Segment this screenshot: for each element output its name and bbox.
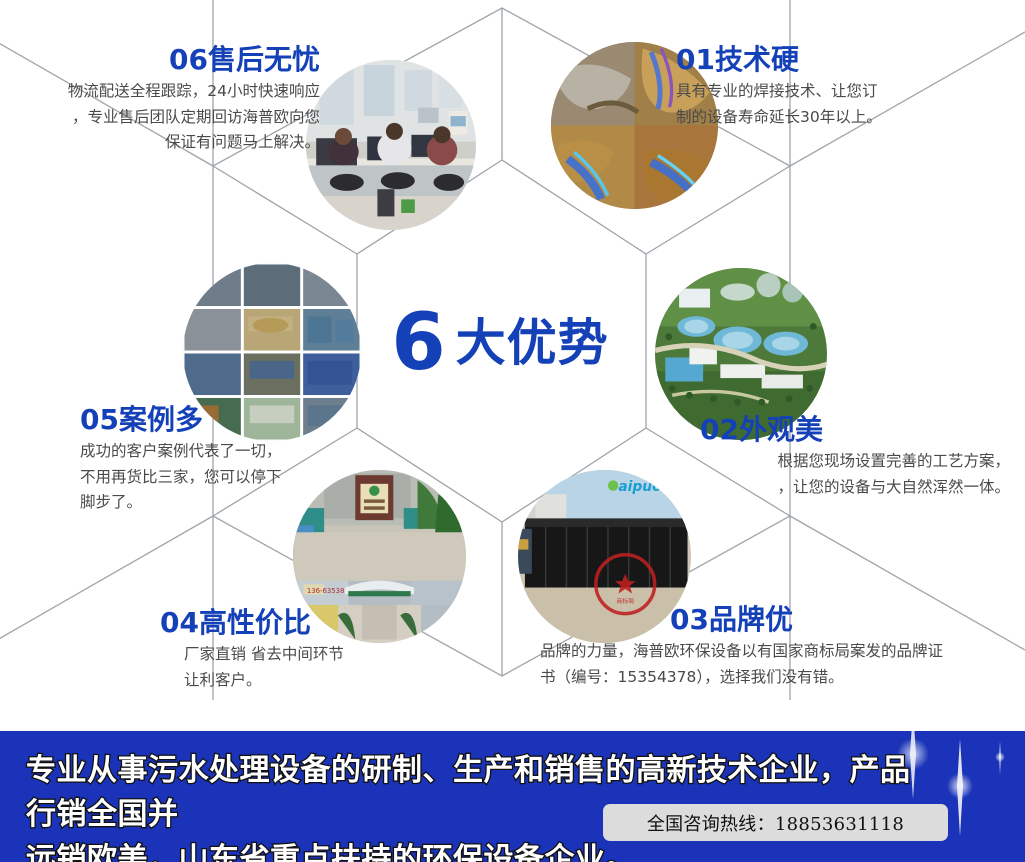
center-number: 6 [391, 304, 443, 382]
feature-06-heading: 06售后无忧 [10, 45, 320, 74]
feature-05-body-line: 脚步了。 [80, 490, 380, 515]
hotline-text: 全国咨询热线：18853631118 [647, 810, 904, 836]
feature-01-body-line: 具有专业的焊接技术、让您订 [676, 79, 1006, 104]
feature-05: 05案例多 成功的客户案例代表了一切， 不用再货比三家，您可以停下 脚步了。 [80, 405, 380, 515]
feature-05-body-line: 不用再货比三家，您可以停下 [80, 465, 380, 490]
feature-06-body: 物流配送全程跟踪，24小时快速响应 ，专业售后团队定期回访海普欧向您 保证有问题… [10, 79, 320, 154]
center-word: 大优势 [456, 318, 609, 368]
feature-05-heading: 05案例多 [80, 405, 380, 434]
hotline-box[interactable]: 全国咨询热线：18853631118 [603, 804, 948, 841]
feature-03-body-line: 书（编号：15354378），选择我们没有错。 [540, 665, 1020, 690]
feature-06-body-line: 物流配送全程跟踪，24小时快速响应 [10, 79, 320, 104]
feature-02-heading: 02外观美 [700, 415, 1010, 444]
feature-04-body-line: 让利客户。 [184, 668, 460, 693]
feature-03: 03品牌优 品牌的力量，海普欧环保设备以有国家商标局案发的品牌证 书（编号：15… [540, 605, 1020, 690]
feature-04-body-line: 厂家直销 省去中间环节 [184, 642, 460, 667]
feature-06-body-line: ，专业售后团队定期回访海普欧向您 [10, 105, 320, 130]
feature-01-body: 具有专业的焊接技术、让您订 制的设备寿命延长30年以上。 [676, 79, 1006, 129]
feature-02-body-line: ，让您的设备与大自然浑然一体。 [700, 475, 1010, 500]
feature-01-heading: 01技术硬 [676, 45, 1006, 74]
feature-02: 02外观美 根据您现场设置完善的工艺方案， ，让您的设备与大自然浑然一体。 [700, 415, 1010, 500]
infographic-root: 6 大优势 [0, 0, 1025, 862]
feature-05-body-line: 成功的客户案例代表了一切， [80, 439, 380, 464]
feature-04-heading: 04高性价比 [160, 608, 460, 637]
feature-04: 04高性价比 厂家直销 省去中间环节 让利客户。 [160, 608, 460, 693]
feature-02-body-line: 根据您现场设置完善的工艺方案， [700, 449, 1010, 474]
bottom-banner: 专业从事污水处理设备的研制、生产和销售的高新技术企业，产品行销全国并 远销欧美，… [0, 731, 1025, 862]
feature-01-body-line: 制的设备寿命延长30年以上。 [676, 105, 1006, 130]
svg-text:商标局: 商标局 [616, 597, 634, 605]
feature-06-image [306, 60, 476, 230]
feature-06: 06售后无忧 物流配送全程跟踪，24小时快速响应 ，专业售后团队定期回访海普欧向… [10, 45, 320, 155]
feature-03-heading: 03品牌优 [670, 605, 1020, 634]
feature-06-body-line: 保证有问题马上解决。 [10, 130, 320, 155]
feature-03-body: 品牌的力量，海普欧环保设备以有国家商标局案发的品牌证 书（编号：15354378… [540, 639, 1020, 689]
feature-03-body-line: 品牌的力量，海普欧环保设备以有国家商标局案发的品牌证 [540, 639, 1020, 664]
feature-01: 01技术硬 具有专业的焊接技术、让您订 制的设备寿命延长30年以上。 [676, 45, 1006, 130]
feature-04-body: 厂家直销 省去中间环节 让利客户。 [184, 642, 460, 692]
office-staff-working-photo [306, 60, 476, 230]
feature-02-body: 根据您现场设置完善的工艺方案， ，让您的设备与大自然浑然一体。 [700, 449, 1010, 499]
banner-slogan-line2: 远销欧美，山东省重点扶持的环保设备企业。 [26, 838, 916, 862]
center-title: 6 大优势 [355, 295, 645, 390]
feature-05-body: 成功的客户案例代表了一切， 不用再货比三家，您可以停下 脚步了。 [80, 439, 380, 514]
